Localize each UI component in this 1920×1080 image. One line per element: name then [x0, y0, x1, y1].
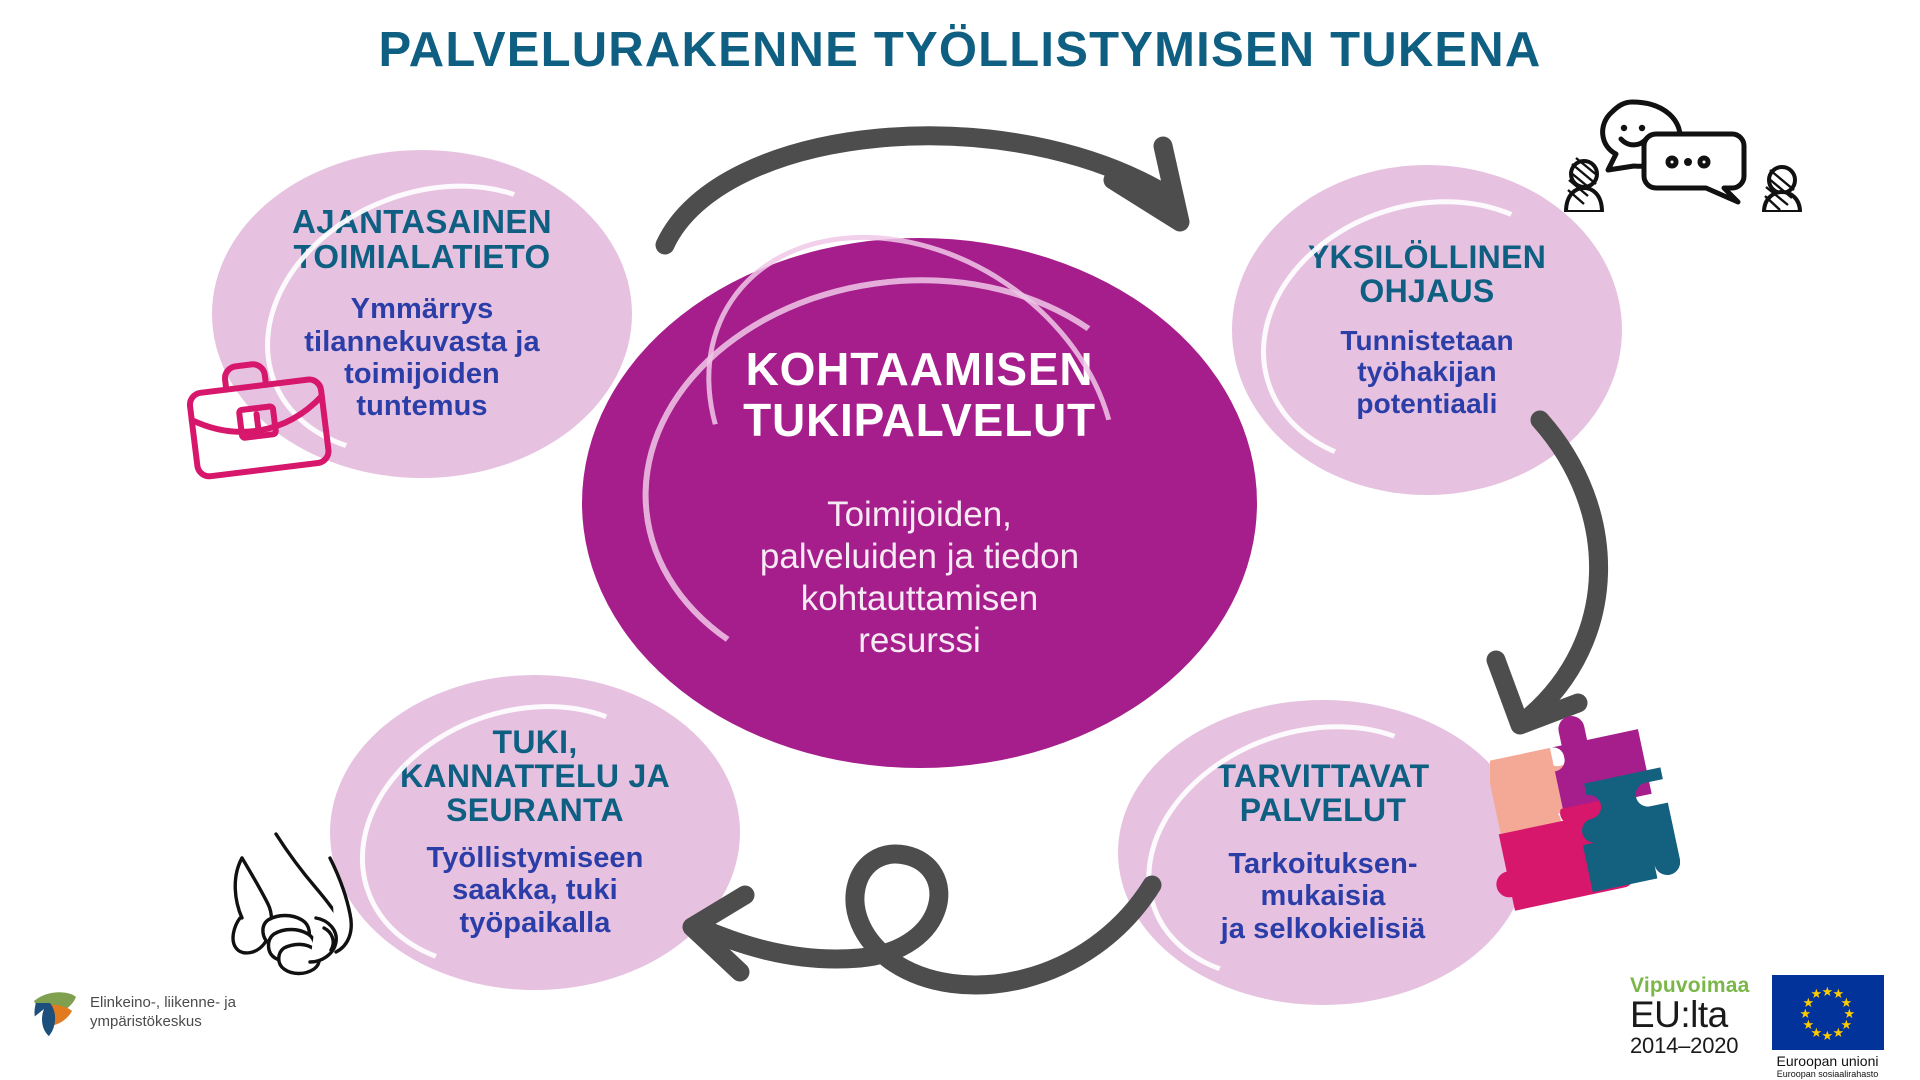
ely-leaf-mark [28, 985, 80, 1041]
center-subtext: Toimijoiden, palveluiden ja tiedon kohta… [760, 494, 1079, 662]
center-heading: KOHTAAMISEN TUKIPALVELUT [743, 344, 1096, 445]
bubble-heading: TARVITTAVAT PALVELUT [1216, 760, 1429, 828]
bubble-heading: AJANTASAINEN TOIMIALATIETO [292, 205, 552, 275]
eu-caption-primary: Euroopan unioni [1772, 1053, 1884, 1069]
eu-star-icon: ★ [1822, 1029, 1834, 1042]
eulta-label: EU:lta [1630, 996, 1750, 1034]
bubble-subtext: Ymmärrys tilannekuvasta ja toimijoiden t… [304, 293, 539, 423]
eu-flag-icon: ★★★★★★★★★★★★ [1772, 975, 1884, 1050]
puzzle-pieces-icon [1490, 712, 1680, 917]
bubble-subtext: Tunnistetaan työhakijan potentiaali [1340, 325, 1513, 419]
vipuvoimaa-eulta-logo: Vipuvoimaa EU:lta 2014–2020 [1630, 975, 1750, 1057]
speech-bubbles-icon [1562, 92, 1842, 217]
eu-star-icon: ★ [1833, 1026, 1845, 1039]
arrow-bottom-loop [692, 854, 1152, 985]
infographic-canvas: PALVELURAKENNE TYÖLLISTYMISEN TUKENA AJA… [0, 0, 1920, 1080]
center-circle-kohtaamisen-tukipalvelut[interactable]: KOHTAAMISEN TUKIPALVELUT Toimijoiden, pa… [582, 238, 1257, 768]
bubble-tuki-kannattelu-seuranta[interactable]: TUKI, KANNATTELU JA SEURANTA Työllistymi… [330, 675, 740, 990]
person-left-icon [1566, 158, 1602, 212]
bubble-heading: TUKI, KANNATTELU JA SEURANTA [400, 726, 670, 828]
holding-hands-icon [212, 822, 387, 987]
person-right-icon [1764, 167, 1800, 212]
eu-years-label: 2014–2020 [1630, 1034, 1750, 1057]
arrow-top [665, 136, 1180, 245]
eu-star-icon: ★ [1822, 985, 1834, 998]
european-union-logo: ★★★★★★★★★★★★ Euroopan unioni Euroopan so… [1772, 975, 1884, 1079]
vipuvoimaa-label: Vipuvoimaa [1630, 975, 1750, 996]
ely-keskus-logo: Elinkeino-, liikenne- ja ympäristökeskus [28, 985, 236, 1041]
bubble-subtext: Työllistymiseen saakka, tuki työpaikalla [427, 842, 644, 939]
bubble-subtext: Tarkoituksen- mukaisia ja selkokielisiä [1221, 848, 1426, 945]
eu-caption-secondary: Euroopan sosiaalirahasto [1772, 1069, 1884, 1079]
eu-funding-logos: Vipuvoimaa EU:lta 2014–2020 ★★★★★★★★★★★★… [1630, 975, 1884, 1079]
bubble-heading: YKSILÖLLINEN OHJAUS [1308, 241, 1546, 309]
ely-logo-text: Elinkeino-, liikenne- ja ympäristökeskus [90, 994, 236, 1032]
briefcase-icon [178, 350, 338, 490]
eu-star-icon: ★ [1811, 987, 1823, 1000]
bubble-tarvittavat-palvelut[interactable]: TARVITTAVAT PALVELUT Tarkoituksen- mukai… [1118, 700, 1528, 1005]
page-title: PALVELURAKENNE TYÖLLISTYMISEN TUKENA [0, 22, 1920, 78]
